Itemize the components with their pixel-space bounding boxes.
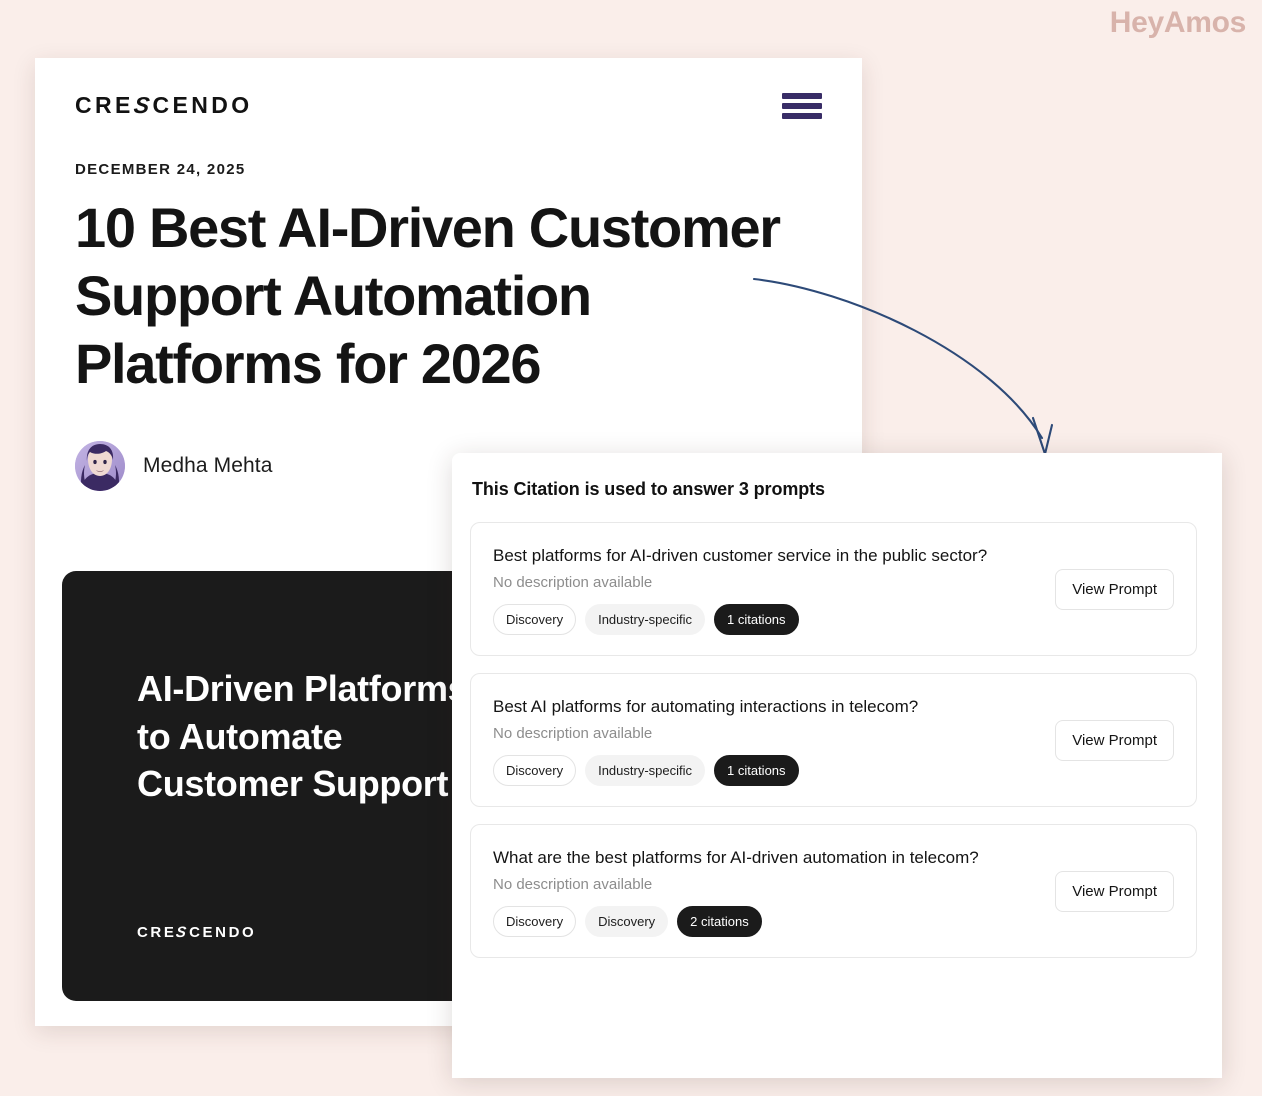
tag-type[interactable]: Industry-specific (585, 755, 705, 786)
tag-row: Discovery Industry-specific 1 citations (493, 604, 1039, 635)
prompt-card[interactable]: Best AI platforms for automating interac… (470, 673, 1197, 807)
prompt-content: Best AI platforms for automating interac… (493, 694, 1039, 786)
tag-type[interactable]: Discovery (585, 906, 668, 937)
article-date: DECEMBER 24, 2025 (75, 161, 822, 178)
view-prompt-button[interactable]: View Prompt (1055, 720, 1174, 761)
author-name[interactable]: Medha Mehta (143, 454, 273, 478)
hero-logo-stylized-s: S (175, 924, 190, 941)
prompt-question: What are the best platforms for AI-drive… (493, 845, 1013, 870)
view-prompt-button[interactable]: View Prompt (1055, 569, 1174, 610)
prompt-description: No description available (493, 876, 1039, 893)
prompt-question: Best platforms for AI-driven customer se… (493, 543, 1013, 568)
prompt-content: What are the best platforms for AI-drive… (493, 845, 1039, 937)
tag-citation-count[interactable]: 1 citations (714, 755, 799, 786)
prompt-list: Best platforms for AI-driven customer se… (470, 522, 1197, 958)
article-body: DECEMBER 24, 2025 10 Best AI-Driven Cust… (35, 161, 862, 491)
tag-citation-count[interactable]: 1 citations (714, 604, 799, 635)
prompt-card[interactable]: Best platforms for AI-driven customer se… (470, 522, 1197, 656)
hero-logo-prefix: CRE (137, 924, 176, 941)
logo-prefix: CRE (75, 92, 134, 119)
tag-row: Discovery Discovery 2 citations (493, 906, 1039, 937)
logo-stylized-s: S (132, 92, 155, 119)
prompt-question: Best AI platforms for automating interac… (493, 694, 1013, 719)
citation-panel: This Citation is used to answer 3 prompt… (452, 453, 1222, 1078)
crescendo-logo[interactable]: CRESCENDO (75, 92, 253, 119)
prompt-description: No description available (493, 725, 1039, 742)
hamburger-bar-3 (782, 113, 822, 119)
hamburger-menu-icon[interactable] (782, 93, 822, 119)
article-header: CRESCENDO (35, 58, 862, 119)
tag-category[interactable]: Discovery (493, 604, 576, 635)
tag-row: Discovery Industry-specific 1 citations (493, 755, 1039, 786)
logo-suffix: CENDO (153, 92, 253, 119)
hero-banner-title: AI-Driven Platforms to Automate Customer… (137, 665, 467, 808)
view-prompt-button[interactable]: View Prompt (1055, 871, 1174, 912)
prompt-card[interactable]: What are the best platforms for AI-drive… (470, 824, 1197, 958)
hero-banner-logo: CRESCENDO (137, 924, 256, 941)
hamburger-bar-1 (782, 93, 822, 99)
tag-category[interactable]: Discovery (493, 906, 576, 937)
tag-type[interactable]: Industry-specific (585, 604, 705, 635)
avatar (75, 441, 125, 491)
watermark-heyamos: HeyAmos (1110, 6, 1246, 40)
prompt-content: Best platforms for AI-driven customer se… (493, 543, 1039, 635)
hamburger-bar-2 (782, 103, 822, 109)
article-title: 10 Best AI-Driven Customer Support Autom… (75, 194, 822, 397)
panel-heading: This Citation is used to answer 3 prompt… (470, 471, 1197, 500)
tag-citation-count[interactable]: 2 citations (677, 906, 762, 937)
tag-category[interactable]: Discovery (493, 755, 576, 786)
prompt-description: No description available (493, 574, 1039, 591)
hero-logo-suffix: CENDO (189, 924, 256, 941)
